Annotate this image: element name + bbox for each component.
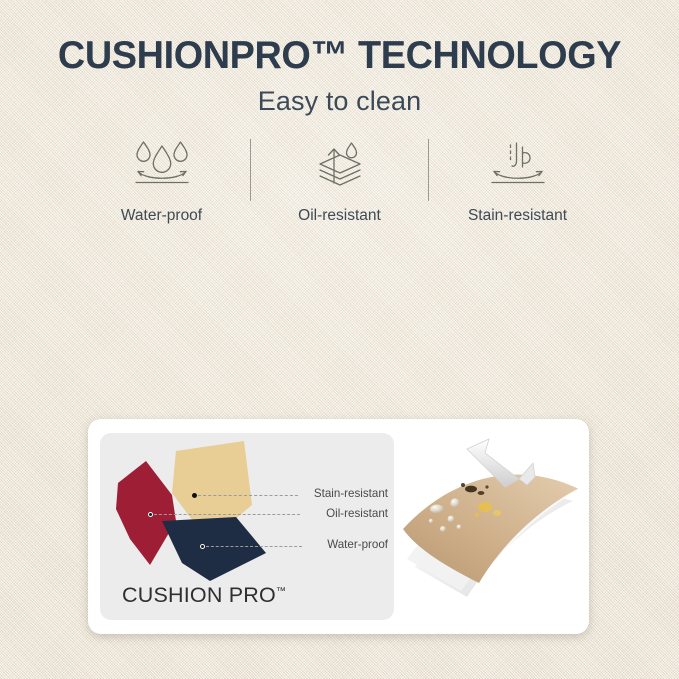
swatch-dot-maroon xyxy=(148,512,153,517)
swatch-maroon xyxy=(116,461,176,565)
page-subtitle: Easy to clean xyxy=(0,86,679,117)
feature-divider-1 xyxy=(250,139,251,201)
water-droplets-repel-icon xyxy=(129,137,195,189)
leader-line-oil xyxy=(154,514,300,515)
layered-stack-arrow-icon xyxy=(307,137,373,189)
leader-line-water xyxy=(206,546,302,547)
product-card: Stain-resistant Oil-resistant Water-proo… xyxy=(88,419,589,634)
stain-splash-repel-icon xyxy=(485,137,551,189)
feature-row: Water-proof Oil-resistant xyxy=(0,137,679,225)
feature-stain-resistant: Stain-resistant xyxy=(435,137,600,225)
header: CUSHIONPRO™ TECHNOLOGY Easy to clean xyxy=(0,0,679,117)
leader-line-stain xyxy=(198,495,298,496)
cushion-pro-logo: CUSHION PRO™ xyxy=(122,583,286,608)
feature-label: Stain-resistant xyxy=(468,207,567,225)
swatch-navy xyxy=(162,517,266,581)
bounce-arrow-icon xyxy=(467,439,535,487)
callout-stain-resistant: Stain-resistant xyxy=(296,487,388,500)
logo-trademark: ™ xyxy=(276,586,286,597)
feature-label: Water-proof xyxy=(121,207,202,225)
swatch-tan xyxy=(172,441,252,525)
swatch-dot-navy xyxy=(200,544,205,549)
feature-oil-resistant: Oil-resistant xyxy=(257,137,422,225)
callout-oil-resistant: Oil-resistant xyxy=(296,507,388,520)
curved-fabric-illustration xyxy=(393,427,589,627)
page-title: CUSHIONPRO™ TECHNOLOGY xyxy=(10,34,669,78)
logo-text: CUSHION PRO xyxy=(122,583,276,607)
feature-label: Oil-resistant xyxy=(298,207,381,225)
swatch-diagram-panel: Stain-resistant Oil-resistant Water-proo… xyxy=(100,433,394,620)
infographic-root: CUSHIONPRO™ TECHNOLOGY Easy to clean xyxy=(0,0,679,679)
swatch-dot-tan xyxy=(192,493,197,498)
callout-water-proof: Water-proof xyxy=(296,538,388,551)
feature-divider-2 xyxy=(428,139,429,201)
feature-water-proof: Water-proof xyxy=(79,137,244,225)
